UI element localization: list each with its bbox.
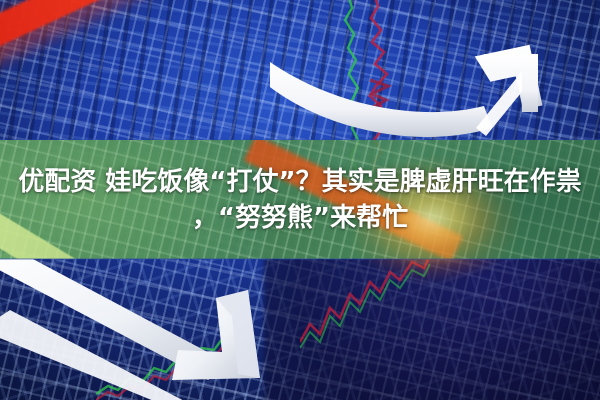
- band-seam-bottom: [0, 258, 600, 260]
- headline-band: [0, 140, 600, 259]
- article-banner: 优配资 娃吃饭像“打仗”？其实是脾虚肝旺在作祟 ，“努努熊”来帮忙: [0, 0, 600, 400]
